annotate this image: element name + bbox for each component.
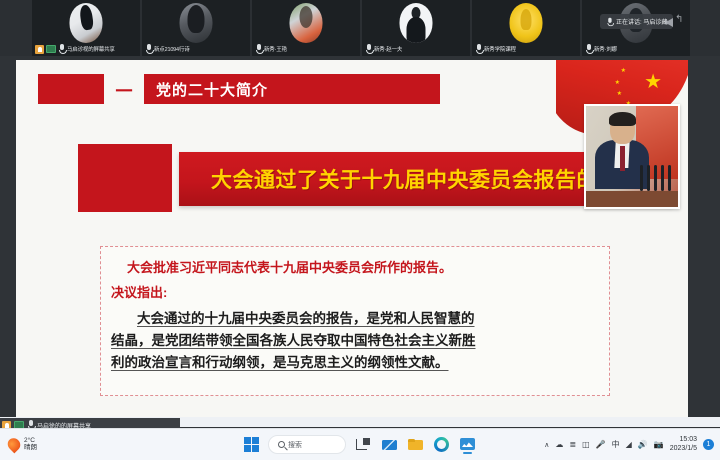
- participant-name: 新点21094行诗: [154, 45, 190, 53]
- onedrive-icon[interactable]: ☁: [555, 441, 563, 449]
- participant-name: 新秀·赵一夫: [374, 45, 402, 53]
- participant-tile[interactable]: 新秀·赵一夫: [362, 0, 470, 56]
- participant-footer: 新秀·赵一夫: [362, 43, 470, 55]
- microphone-icon[interactable]: [145, 44, 152, 54]
- windows-taskbar: 2°C 晴朗 搜索 ∧ ☁ ≣ ◫ 🎤: [0, 428, 720, 460]
- decorative-red-square: [78, 144, 172, 212]
- volume-icon[interactable]: 🔊: [638, 441, 648, 449]
- slide-title-row: 一 党的二十大简介: [38, 74, 440, 104]
- screen-share-icon: [46, 45, 56, 53]
- settings-sliders-icon[interactable]: ≣: [569, 441, 576, 449]
- participant-name: 新秀·王艳: [264, 45, 287, 53]
- search-input[interactable]: 搜索: [268, 435, 346, 454]
- chevron-up-icon[interactable]: ∧: [544, 441, 549, 449]
- speaking-label: 正在讲话: 马启诊藏: [616, 17, 667, 26]
- headline-text: 大会通过了关于十九届中央委员会报告的决议: [211, 164, 641, 194]
- clock-date: 2023/1/5: [670, 445, 697, 453]
- content-card: 大会批准习近平同志代表十九届中央委员会所作的报告。 决议指出: 大会通过的十九届…: [100, 246, 610, 396]
- microphone-icon: [607, 17, 613, 26]
- microphone-icon[interactable]: [58, 44, 65, 54]
- taskbar-center-group: 搜索: [244, 435, 476, 454]
- avatar: [70, 3, 103, 43]
- weather-description: 晴朗: [24, 445, 37, 452]
- folder-icon[interactable]: [407, 436, 424, 453]
- avatar: [510, 3, 543, 43]
- avatar: [180, 3, 213, 43]
- content-paragraph: 大会通过的十九届中央委员会的报告，是党和人民智慧的结晶，是党团结带领全国各族人民…: [111, 308, 481, 374]
- weather-icon: [5, 436, 23, 454]
- section-number: 一: [104, 74, 144, 104]
- participant-tile[interactable]: 新秀·王艳: [252, 0, 360, 56]
- content-line-1: 大会批准习近平同志代表十九届中央委员会所作的报告。: [127, 257, 599, 276]
- mail-icon[interactable]: [381, 436, 398, 453]
- participant-name: 马启诊视的屏幕共享: [67, 45, 115, 53]
- speaker-portrait-photo: [584, 104, 680, 209]
- weather-widget[interactable]: 2°C 晴朗: [8, 438, 37, 452]
- microphone-icon[interactable]: 🎤: [596, 441, 606, 449]
- system-tray: ∧ ☁ ≣ ◫ 🎤 中 ◢ 🔊 📷 15:03 2023/1/5 1: [544, 436, 714, 452]
- clock-time: 15:03: [679, 436, 697, 444]
- windows-logo-icon[interactable]: [244, 437, 259, 452]
- audio-wave-icons: [665, 18, 684, 27]
- participant-tile[interactable]: 新秀学院课程: [472, 0, 580, 56]
- ime-language-icon[interactable]: 中: [612, 441, 620, 449]
- microphone-icon[interactable]: [255, 44, 262, 54]
- title-decoration-block: [38, 74, 104, 104]
- edge-icon[interactable]: [433, 436, 450, 453]
- meeting-app-icon[interactable]: [459, 436, 476, 453]
- microphone-icon[interactable]: [365, 44, 372, 54]
- participant-tile[interactable]: 新点21094行诗: [142, 0, 250, 56]
- notification-count: 1: [707, 441, 711, 448]
- battery-icon[interactable]: ◫: [582, 441, 590, 449]
- wifi-icon[interactable]: ◢: [626, 441, 632, 449]
- section-title-bar: 党的二十大简介: [144, 74, 440, 104]
- content-line-2: 决议指出:: [111, 282, 599, 301]
- participant-footer: 新秀学院课程: [472, 43, 580, 55]
- participant-name: 新秀学院课程: [484, 45, 516, 53]
- search-icon: [278, 441, 285, 448]
- host-badge-icon: [35, 45, 44, 54]
- camera-icon[interactable]: 📷: [654, 441, 664, 449]
- participant-footer: 新点21094行诗: [142, 43, 250, 55]
- participant-tile[interactable]: 马启诊视的屏幕共享: [32, 0, 140, 56]
- desktop-screen: 马启诊视的屏幕共享 新点21094行诗 新秀·王艳 新秀·赵一夫: [0, 0, 720, 460]
- speaking-indicator: 正在讲话: 马启诊藏: [600, 14, 673, 29]
- participant-tile-speaking[interactable]: 正在讲话: 马启诊藏 新秀·刘娜: [582, 0, 690, 56]
- video-participant-strip: 马启诊视的屏幕共享 新点21094行诗 新秀·王艳 新秀·赵一夫: [0, 0, 720, 56]
- microphone-icon[interactable]: [585, 44, 592, 54]
- participant-footer: 新秀·王艳: [252, 43, 360, 55]
- avatar: [290, 3, 323, 43]
- presentation-slide: ★ ★ ★ ★ ★ 一 党的二十大简介 大会通过了关于十九届中央委员会报告的决议…: [16, 60, 688, 417]
- notification-badge[interactable]: 1: [703, 439, 714, 450]
- microphone-icon[interactable]: [475, 44, 482, 54]
- clock[interactable]: 15:03 2023/1/5: [670, 436, 697, 452]
- participant-footer: 马启诊视的屏幕共享: [32, 43, 140, 55]
- task-view-icon[interactable]: [355, 436, 372, 453]
- search-placeholder: 搜索: [288, 440, 302, 450]
- avatar: [400, 3, 433, 43]
- page-title: 党的二十大简介: [156, 79, 268, 100]
- shared-screen-area[interactable]: ★ ★ ★ ★ ★ 一 党的二十大简介 大会通过了关于十九届中央委员会报告的决议…: [16, 60, 688, 417]
- participant-name: 新秀·刘娜: [594, 45, 617, 53]
- sound-wave-icon: [665, 18, 673, 27]
- return-arrow-icon: [676, 18, 684, 27]
- participant-footer: 新秀·刘娜: [582, 43, 690, 55]
